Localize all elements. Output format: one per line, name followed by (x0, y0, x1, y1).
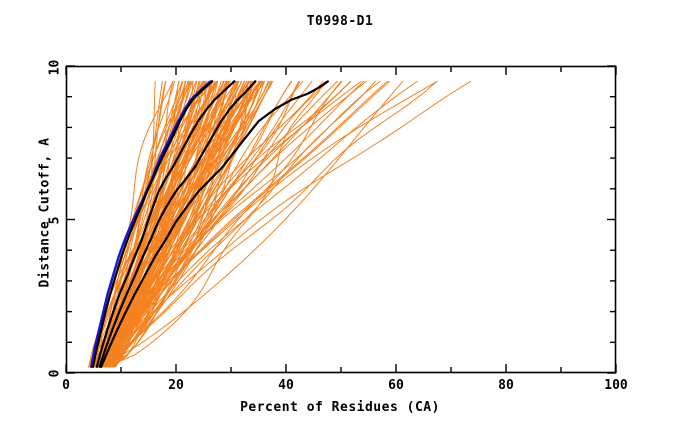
chart-figure: T0998-D1 Percent of Residues (CA) Distan… (0, 0, 680, 440)
plot-canvas (0, 0, 680, 440)
